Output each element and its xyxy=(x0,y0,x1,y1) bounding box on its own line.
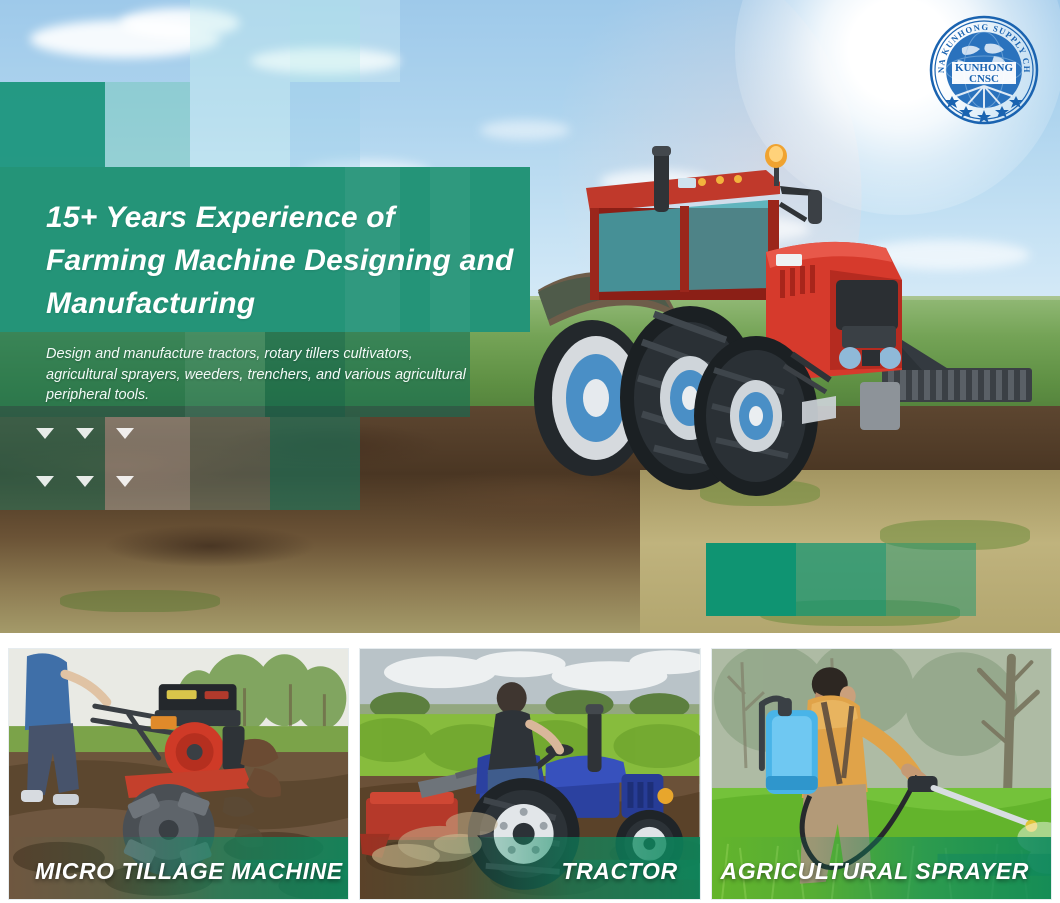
chevron-down-icon xyxy=(76,476,94,487)
product-card-micro-tillage-machine[interactable]: MICRO TILLAGE MACHINE xyxy=(8,648,349,900)
decor-square xyxy=(886,543,976,616)
chevron-down-icon xyxy=(36,476,54,487)
decor-square xyxy=(706,543,796,616)
chevron-down-icon xyxy=(116,428,134,439)
product-card-tractor[interactable]: TRACTOR xyxy=(359,648,700,900)
arrow-decoration-group xyxy=(36,428,146,500)
decor-tile xyxy=(190,0,290,167)
decor-tile xyxy=(270,417,360,510)
decor-tile xyxy=(290,0,360,82)
company-logo: KUNHONG CNSC CHINA KUNHONG SUPPLY CHAIN xyxy=(928,14,1040,126)
hero-headline: 15+ Years Experience of Farming Machine … xyxy=(46,196,516,325)
decor-tile xyxy=(105,82,190,167)
product-card-row: MICRO TILLAGE MACHINE xyxy=(0,648,1060,903)
chevron-down-icon xyxy=(76,428,94,439)
product-card-agricultural-sprayer[interactable]: AGRICULTURAL SPRAYER xyxy=(711,648,1052,900)
hero-banner: 15+ Years Experience of Farming Machine … xyxy=(0,0,1060,633)
decor-tile xyxy=(0,82,105,167)
decor-tile xyxy=(360,0,400,82)
decor-tile xyxy=(290,82,360,167)
chevron-down-icon xyxy=(36,428,54,439)
tractor-illustration xyxy=(530,130,1060,520)
logo-line2: CNSC xyxy=(969,73,999,85)
chevron-down-icon xyxy=(116,476,134,487)
decor-square xyxy=(796,543,886,616)
card-caption: AGRICULTURAL SPRAYER xyxy=(712,858,1051,885)
grass-patch xyxy=(60,590,220,612)
decor-tile xyxy=(190,417,270,510)
card-caption: MICRO TILLAGE MACHINE xyxy=(9,858,348,885)
hero-subtitle: Design and manufacture tractors, rotary … xyxy=(46,344,466,406)
card-caption: TRACTOR xyxy=(360,858,699,885)
